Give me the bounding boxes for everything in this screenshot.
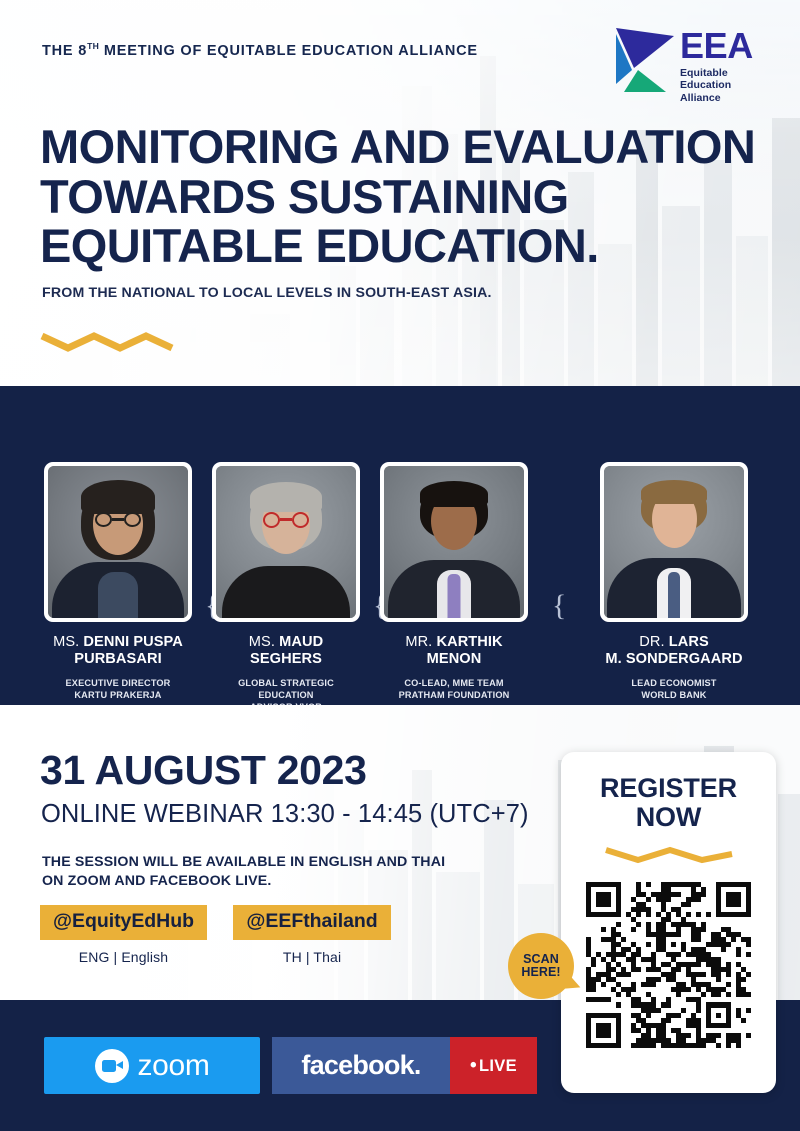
presenter-name-line2: MENON <box>427 651 482 667</box>
presenters-section: THE PRESENTER THE SPECIAL REMARK <box>0 386 800 705</box>
presenter-name: DR. LARS M. SONDERGAARD <box>600 634 748 668</box>
handle-language-english: ENG | English <box>40 949 207 965</box>
presenter-name-bold: LARS <box>669 634 709 650</box>
scan-here-badge: SCAN HERE! <box>508 933 574 999</box>
presenter-name-bold: KARTHIK <box>436 634 502 650</box>
scan-text-line1: SCAN <box>523 952 559 966</box>
presenter-role-line2: WORLD BANK <box>600 689 748 701</box>
kicker-ordinal-suffix: TH <box>87 41 99 51</box>
gold-zigzag-divider-icon <box>40 331 174 353</box>
availability-and: AND <box>111 873 150 889</box>
handle-badge-eefthailand[interactable]: @EEFthailand <box>233 905 390 940</box>
presenter-role-line1: EXECUTIVE DIRECTOR <box>44 677 192 689</box>
register-line1: REGISTER <box>600 773 737 803</box>
presenter-role: CO-LEAD, MME TEAM PRATHAM FOUNDATION <box>380 677 528 701</box>
headline-line-3: EQUITABLE EDUCATION. <box>40 221 740 271</box>
handle-badge-equityedhub[interactable]: @EquityEdHub <box>40 905 207 940</box>
handle-language-thai: TH | Thai <box>233 949 390 965</box>
presenter-role: LEAD ECONOMIST WORLD BANK <box>600 677 748 701</box>
page-title: MONITORING AND EVALUATION TOWARDS SUSTAI… <box>40 122 740 271</box>
avatar <box>384 466 524 618</box>
presenter-name: MR. KARTHIK MENON <box>380 634 528 668</box>
live-label: LIVE <box>479 1057 517 1075</box>
avatar <box>216 466 356 618</box>
live-badge-block: •LIVE <box>450 1037 537 1094</box>
photo-frame <box>380 462 528 622</box>
presenter-honorific: MS. <box>53 634 79 650</box>
scan-text-line2: HERE! <box>521 965 560 979</box>
presenter-name: MS. MAUD SEGHERS <box>212 634 360 668</box>
event-kicker: THE 8TH MEETING OF EQUITABLE EDUCATION A… <box>42 41 478 59</box>
presenter-name-bold: MAUD <box>279 634 323 650</box>
photo-frame <box>212 462 360 622</box>
facebook-live-logo-button[interactable]: facebook. •LIVE <box>272 1037 537 1094</box>
webinar-poster: THE 8TH MEETING OF EQUITABLE EDUCATION A… <box>0 0 800 1131</box>
eea-acronym: EEA <box>680 28 774 64</box>
presenter-separator-3: { <box>552 591 566 621</box>
eea-logo-mark-icon <box>614 26 676 94</box>
presenter-role: EXECUTIVE DIRECTOR KARTU PRAKERJA <box>44 677 192 701</box>
facebook-wordmark-block: facebook. <box>272 1037 450 1094</box>
hero-section: THE 8TH MEETING OF EQUITABLE EDUCATION A… <box>0 0 800 386</box>
availability-note: THE SESSION WILL BE AVAILABLE IN ENGLISH… <box>42 853 445 890</box>
live-dot-icon: • <box>470 1055 477 1076</box>
presenter-role-line2: KARTU PRAKERJA <box>44 689 192 701</box>
presenter-role-line1: LEAD ECONOMIST <box>600 677 748 689</box>
kicker-post: MEETING OF EQUITABLE EDUCATION ALLIANCE <box>99 43 478 59</box>
availability-prefix: ON <box>42 873 68 889</box>
presenter-name-line2: SEGHERS <box>250 651 322 667</box>
photo-frame <box>600 462 748 622</box>
headline-line-2: TOWARDS SUSTAINING <box>40 172 740 222</box>
handle-group-english: @EquityEdHub ENG | English <box>40 905 207 965</box>
social-handles: @EquityEdHub ENG | English @EEFthailand … <box>40 905 391 965</box>
avatar <box>48 466 188 618</box>
presenter-card-denni-puspa-purbasari: MS. DENNI PUSPA PURBASARI EXECUTIVE DIRE… <box>44 462 192 701</box>
eea-fullname-line1: Equitable Education <box>680 67 774 92</box>
presenter-name-line2: PURBASARI <box>74 651 161 667</box>
availability-zoom: ZOOM <box>68 873 111 889</box>
zoom-wordmark: zoom <box>138 1051 210 1081</box>
photo-frame <box>44 462 192 622</box>
headline-line-1: MONITORING AND EVALUATION <box>40 122 740 172</box>
presenter-role-line1: CO-LEAD, MME TEAM <box>380 677 528 689</box>
presenter-card-lars-sondergaard: DR. LARS M. SONDERGAARD LEAD ECONOMIST W… <box>600 462 748 701</box>
register-zigzag-divider-icon <box>604 846 734 869</box>
presenter-name-line2: M. SONDERGAARD <box>605 651 742 667</box>
presenter-role-line2: PRATHAM FOUNDATION <box>380 689 528 701</box>
zoom-camera-icon <box>95 1049 129 1083</box>
register-now-title: REGISTER NOW <box>600 774 737 832</box>
avatar <box>604 466 744 618</box>
handle-group-thai: @EEFthailand TH | Thai <box>233 905 390 965</box>
presenter-card-maud-seghers: MS. MAUD SEGHERS GLOBAL STRATEGIC EDUCAT… <box>212 462 360 714</box>
scan-bubble-circle: SCAN HERE! <box>508 933 574 999</box>
registration-qr-code[interactable] <box>586 882 752 1048</box>
presenter-honorific: DR. <box>639 634 664 650</box>
kicker-pre: THE 8 <box>42 43 87 59</box>
eea-fullname-line2: Alliance <box>680 92 774 104</box>
presenter-honorific: MS. <box>249 634 275 650</box>
presenter-name-bold: DENNI PUSPA <box>83 634 182 650</box>
eea-logo: EEA Equitable Education Alliance <box>614 24 774 102</box>
availability-line1: THE SESSION WILL BE AVAILABLE IN ENGLISH… <box>42 854 445 870</box>
zoom-logo-button[interactable]: zoom <box>44 1037 260 1094</box>
availability-facebook-live: FACEBOOK LIVE. <box>150 873 272 889</box>
subtitle: FROM THE NATIONAL TO LOCAL LEVELS IN SOU… <box>42 285 492 301</box>
presenter-card-karthik-menon: MR. KARTHIK MENON CO-LEAD, MME TEAM PRAT… <box>380 462 528 701</box>
presenter-name: MS. DENNI PUSPA PURBASARI <box>44 634 192 668</box>
presenter-role-line1: GLOBAL STRATEGIC EDUCATION <box>212 677 360 701</box>
presenter-honorific: MR. <box>405 634 432 650</box>
live-badge: •LIVE <box>470 1056 517 1075</box>
event-date: 31 AUGUST 2023 <box>40 750 367 791</box>
register-now-card[interactable]: REGISTER NOW <box>561 752 776 1093</box>
facebook-wordmark: facebook. <box>301 1052 420 1079</box>
register-line2: NOW <box>636 802 702 832</box>
event-time: ONLINE WEBINAR 13:30 - 14:45 (UTC+7) <box>41 802 529 828</box>
